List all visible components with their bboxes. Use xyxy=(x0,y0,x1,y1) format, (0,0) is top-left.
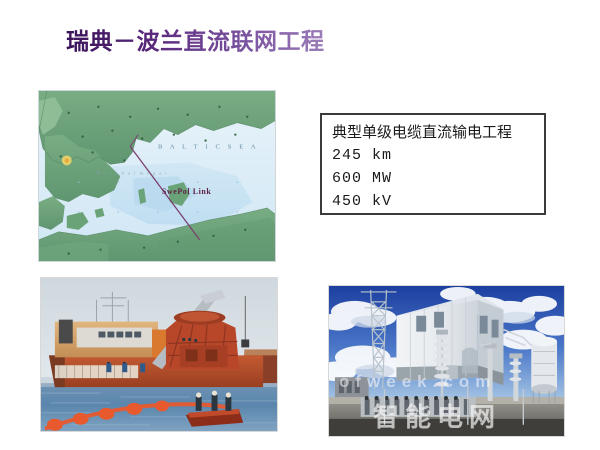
spec-power: 600 MW xyxy=(332,167,544,190)
converter-station-photo: ofweek.com 智能电网 xyxy=(328,285,565,437)
map-sea-label: B A L T I C S E A xyxy=(158,144,259,151)
baltic-sea-map: B A L T I C S E A B o r n h o l m s g a … xyxy=(38,90,276,262)
ship-photo-graphic xyxy=(41,278,277,432)
cable-laying-vessel-photo xyxy=(40,277,278,432)
spec-length: 245 km xyxy=(332,144,544,167)
spec-text-box: 典型单级电缆直流输电工程 245 km 600 MW 450 kV xyxy=(320,113,546,215)
swepol-link-label: SwePol Link xyxy=(162,187,211,196)
page-title: 瑞典－波兰直流联网工程 xyxy=(66,22,325,56)
station-photo-graphic xyxy=(329,286,564,437)
map-subsea-label: B o r n h o l m s g a t xyxy=(97,170,168,175)
map-graphic: B A L T I C S E A B o r n h o l m s g a … xyxy=(39,91,275,262)
spec-heading: 典型单级电缆直流输电工程 xyxy=(332,121,544,144)
spec-voltage: 450 kV xyxy=(332,190,544,213)
